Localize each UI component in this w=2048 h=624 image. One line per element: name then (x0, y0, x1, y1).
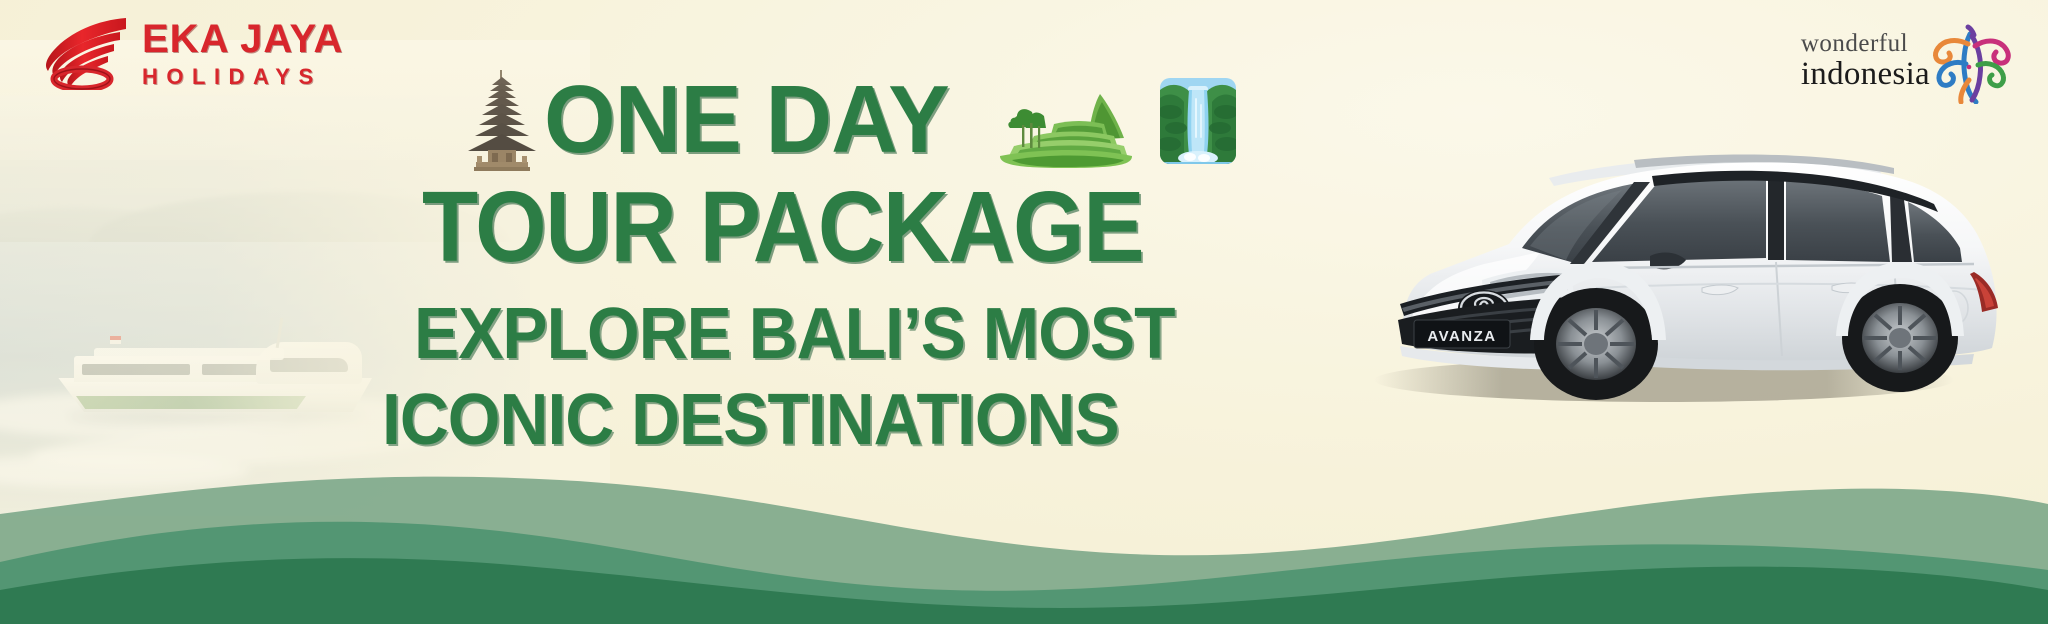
wonderful-indonesia-swirl-icon (1928, 20, 2012, 104)
balinese-temple-icon (466, 68, 538, 172)
headline-line-two: TOUR PACKAGE (422, 170, 1465, 285)
wi-bottom-text: indonesia (1801, 58, 1930, 91)
eka-jaya-logo[interactable]: EKA JAYA HOLIDAYS (40, 16, 343, 90)
waterfall-icon (1156, 72, 1240, 168)
eka-jaya-wordmark: EKA JAYA HOLIDAYS (142, 19, 343, 88)
wi-top-text: wonderful (1801, 31, 1930, 56)
rice-terrace-icon (992, 72, 1142, 168)
toyota-avanza-vehicle: AVANZA (1334, 112, 2034, 412)
headline-line-one: ONE DAY (544, 65, 949, 175)
headline-line-three: EXPLORE BALI’S MOST (414, 293, 1487, 375)
vehicle-plate-text: AVANZA (1427, 328, 1496, 345)
eka-jaya-wing-mark-icon (40, 16, 128, 90)
promotional-banner: EKA JAYA HOLIDAYS wonderful indonesia (0, 0, 2048, 624)
logo-main-text: EKA JAYA (142, 19, 343, 59)
green-wave-decoration (0, 394, 2048, 624)
wonderful-indonesia-logo[interactable]: wonderful indonesia (1801, 18, 2012, 104)
wonderful-indonesia-wordmark: wonderful indonesia (1801, 31, 1930, 91)
logo-sub-text: HOLIDAYS (142, 66, 343, 88)
